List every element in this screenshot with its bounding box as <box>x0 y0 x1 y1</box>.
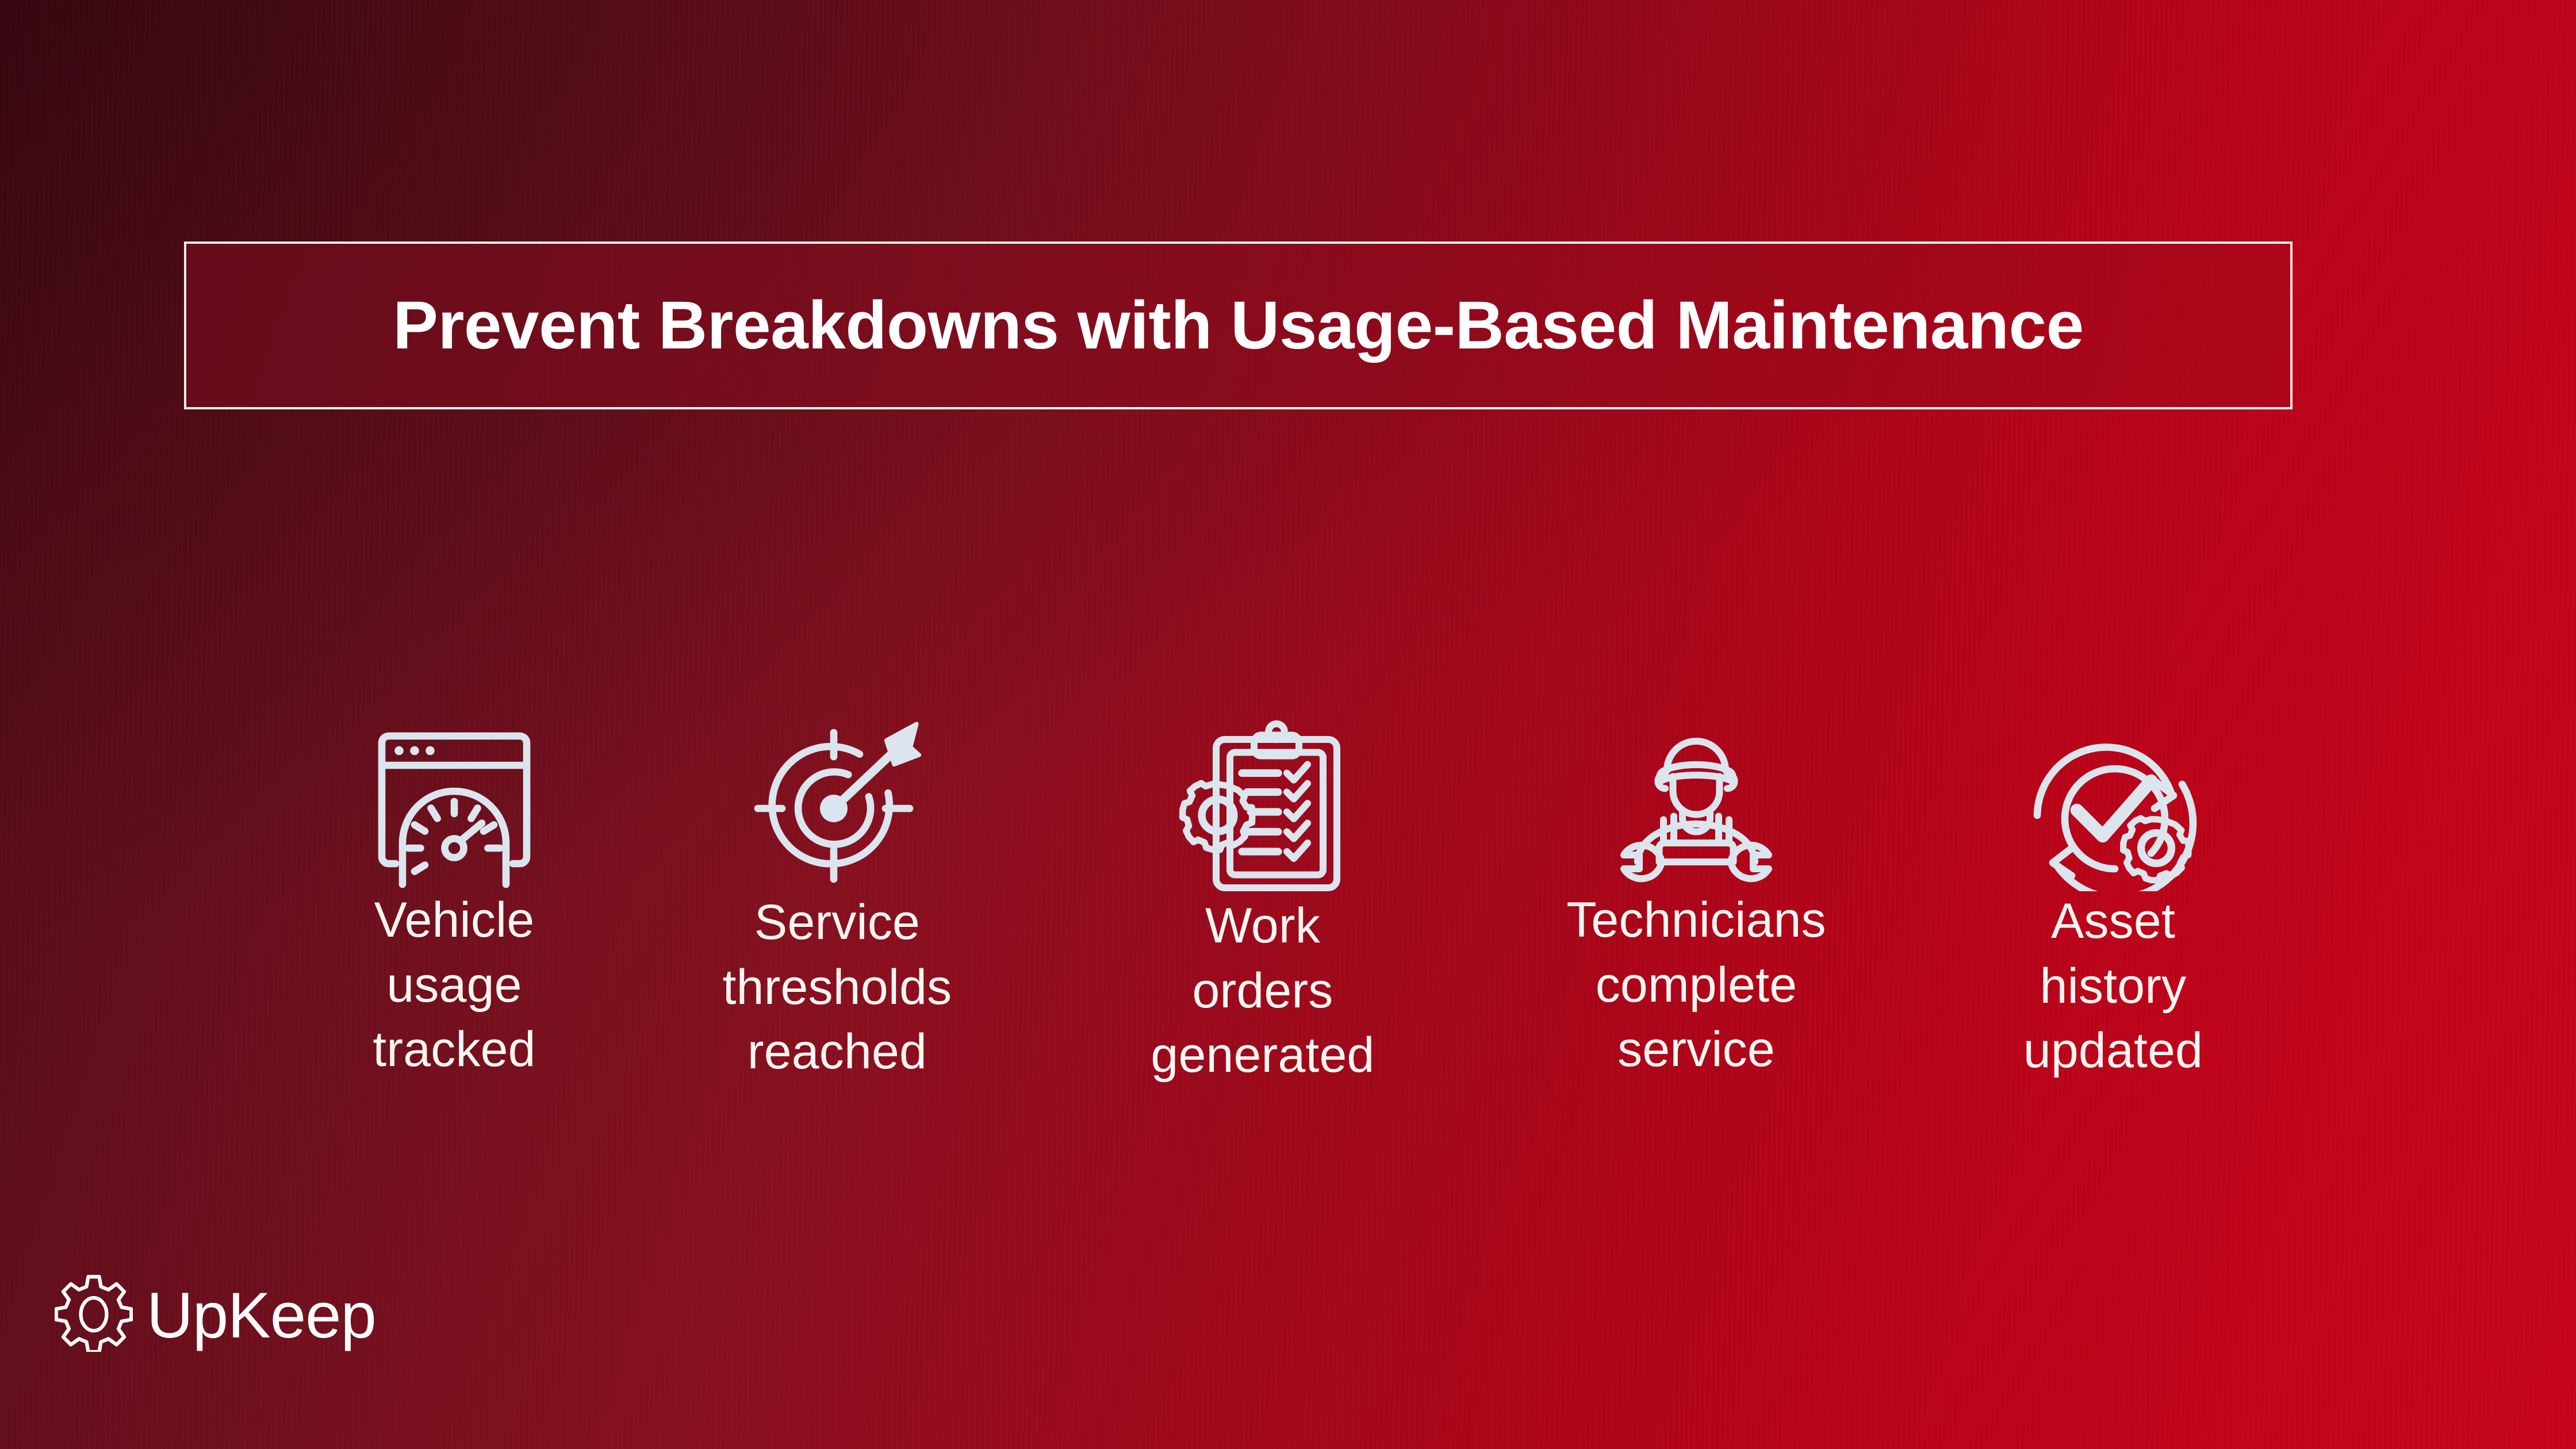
upkeep-wordmark: UpKeep <box>147 1283 376 1348</box>
label-line: updated <box>1964 1018 2263 1083</box>
process-step-label: Asset history updated <box>1964 889 2263 1083</box>
label-line: Vehicle <box>305 888 604 953</box>
page-title: Prevent Breakdowns with Usage-Based Main… <box>393 292 2084 359</box>
process-step-service-thresholds: Service thresholds reached <box>688 581 987 1084</box>
label-line: Service <box>688 890 987 955</box>
label-line: tracked <box>305 1017 604 1082</box>
technician-wrench-icon <box>1547 581 1846 891</box>
label-line: thresholds <box>688 955 987 1020</box>
process-step-label: Service thresholds reached <box>688 890 987 1084</box>
process-step-label: Vehicle usage tracked <box>305 888 604 1082</box>
process-step-label: Technicians complete service <box>1547 888 1846 1082</box>
label-line: complete <box>1547 953 1846 1018</box>
label-line: generated <box>1113 1023 1412 1088</box>
label-line: Technicians <box>1547 888 1846 953</box>
title-banner: Prevent Breakdowns with Usage-Based Main… <box>184 241 2293 409</box>
label-line: history <box>1964 954 2263 1019</box>
label-line: orders <box>1113 959 1412 1023</box>
infographic-canvas: Prevent Breakdowns with Usage-Based Main… <box>0 0 2576 1449</box>
process-step-technicians: Technicians complete service <box>1547 581 1846 1082</box>
label-line: Work <box>1113 894 1412 959</box>
upkeep-gear-logo-icon <box>55 1274 133 1355</box>
label-line: usage <box>305 953 604 1018</box>
upkeep-logo: UpKeep <box>55 1274 376 1355</box>
refresh-check-gear-icon <box>1964 581 2263 891</box>
process-step-work-orders: Work orders generated <box>1113 581 1412 1088</box>
process-step-label: Work orders generated <box>1113 894 1412 1088</box>
label-line: reached <box>688 1019 987 1084</box>
label-line: service <box>1547 1017 1846 1082</box>
browser-speedometer-icon <box>305 581 604 891</box>
process-steps: Vehicle usage tracked <box>0 0 2576 1449</box>
clipboard-checklist-gear-icon <box>1113 581 1412 891</box>
process-step-asset-history: Asset history updated <box>1964 581 2263 1083</box>
process-step-vehicle-usage: Vehicle usage tracked <box>305 581 604 1082</box>
label-line: Asset <box>1964 889 2263 954</box>
target-arrow-icon <box>688 581 987 891</box>
